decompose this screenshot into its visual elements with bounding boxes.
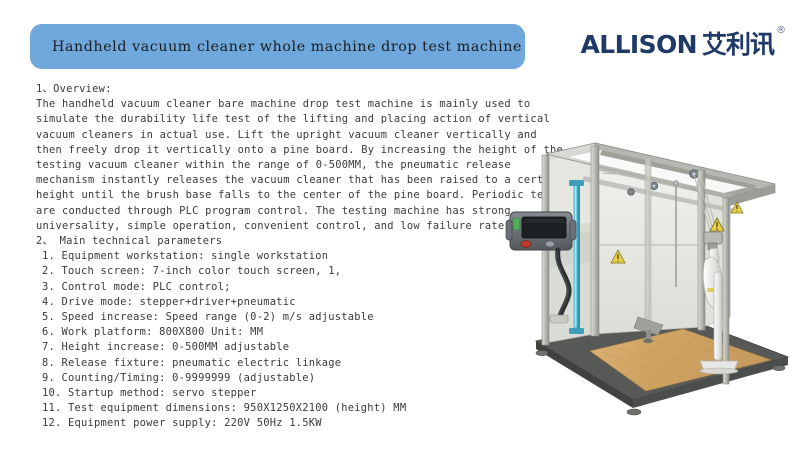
parameter-item: 9. Counting/Timing: 0-9999999 (adjustabl… (36, 371, 528, 386)
hose-clamp (550, 315, 568, 323)
description-column: 1、Overview: The handheld vacuum cleaner … (36, 82, 528, 432)
status-indicator-light (513, 218, 520, 230)
overview-line: testing vacuum cleaner within the range … (36, 158, 528, 173)
parameter-item: 8. Release fixture: pneumatic electric l… (36, 356, 528, 371)
parameter-item: 2. Touch screen: 7-inch color touch scre… (36, 264, 528, 279)
overview-line: then freely drop it vertically onto a pi… (36, 143, 528, 158)
overview-line: mechanism instantly releases the vacuum … (36, 173, 528, 188)
logo-latin-text: ALLISON (580, 32, 697, 57)
page-title: Handheld vacuum cleaner whole machine dr… (52, 39, 522, 55)
parameter-item: 6. Work platform: 800X800 Unit: MM (36, 325, 528, 340)
title-banner: Handheld vacuum cleaner whole machine dr… (30, 24, 525, 69)
overview-line: vacuum cleaners in actual use. Lift the … (36, 128, 528, 143)
panel-handle-left (506, 220, 512, 240)
overview-line: The handheld vacuum cleaner bare machine… (36, 97, 528, 112)
company-logo: ALLISON 艾利讯 ® (580, 32, 786, 57)
parameter-item: 7. Height increase: 0-500MM adjustable (36, 340, 528, 355)
logo-cjk-text: 艾利讯 (702, 32, 774, 57)
page-header: Handheld vacuum cleaner whole machine dr… (0, 0, 800, 78)
parameter-item: 10. Startup method: servo stepper (36, 386, 528, 401)
parameters-heading: 2、 Main technical parameters (36, 234, 528, 249)
parameter-item: 5. Speed increase: Speed range (0-2) m/s… (36, 310, 528, 325)
overview-line: simulate the durability life test of the… (36, 112, 528, 127)
panel-button[interactable] (546, 241, 555, 247)
emergency-stop-button[interactable] (521, 241, 531, 248)
registered-trademark-icon: ® (776, 26, 786, 36)
parameter-item: 11. Test equipment dimensions: 950X1250X… (36, 401, 528, 416)
machine-photo (498, 112, 800, 442)
panel-handle-right (570, 220, 576, 240)
parameter-item: 4. Drive mode: stepper+driver+pneumatic (36, 295, 528, 310)
control-panel (506, 212, 576, 250)
overview-line: height until the brush base falls to the… (36, 188, 528, 203)
overview-heading: 1、Overview: (36, 82, 528, 97)
parameter-item: 3. Control mode: PLC control; (36, 280, 528, 295)
overview-line: are conducted through PLC program contro… (36, 204, 528, 219)
parameter-item: 1. Equipment workstation: single worksta… (36, 249, 528, 264)
overview-line: universality, simple operation, convenie… (36, 219, 528, 234)
parameter-item: 12. Equipment power supply: 220V 50Hz 1.… (36, 416, 528, 431)
